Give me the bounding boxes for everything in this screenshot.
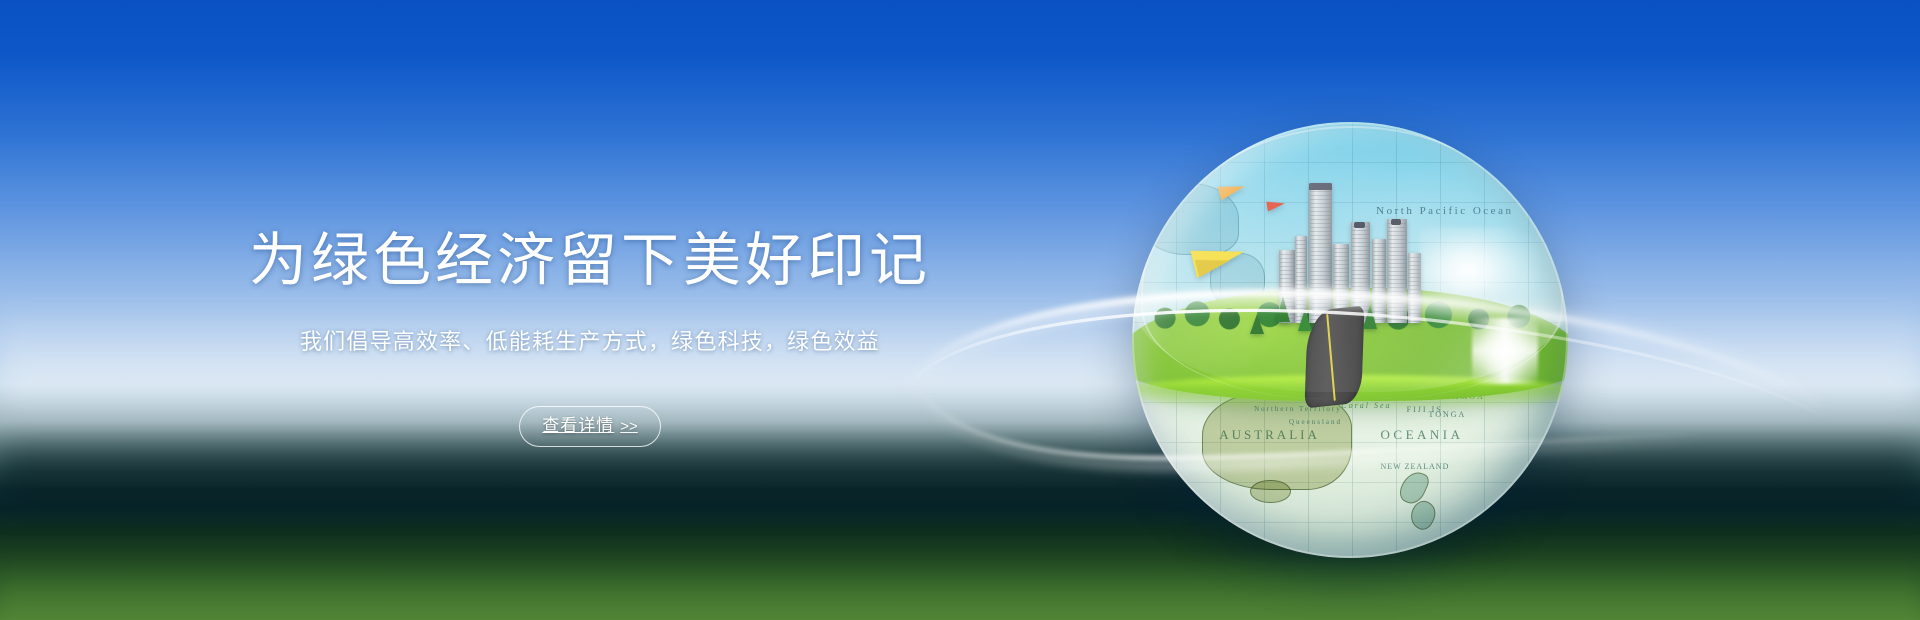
tree-icon — [1250, 314, 1264, 334]
page-title: 为绿色经济留下美好印记 — [0, 232, 1180, 290]
page-subtitle: 我们倡导高效率、低能耗生产方式，绿色科技，绿色效益 — [0, 331, 1180, 353]
building-rooftop — [1309, 183, 1332, 190]
view-details-label: 查看详情 — [542, 416, 614, 435]
tree-icon — [1276, 296, 1290, 322]
tree-icon — [1363, 305, 1377, 329]
city-skyline — [1276, 183, 1450, 323]
landmass-tasmania — [1250, 480, 1291, 504]
globe-illustration: North Pacific Ocean INDONESIA PAPUA NEW … — [1132, 122, 1568, 558]
cta-container: 查看详情>> — [0, 406, 1180, 447]
tree-icon — [1298, 309, 1312, 331]
building-rooftop — [1391, 219, 1401, 225]
hero-banner: North Pacific Ocean INDONESIA PAPUA NEW … — [0, 0, 1920, 620]
building — [1408, 253, 1420, 323]
view-details-button[interactable]: 查看详情>> — [519, 406, 661, 447]
building — [1387, 219, 1406, 322]
glass-globe: North Pacific Ocean INDONESIA PAPUA NEW … — [1132, 122, 1568, 558]
building-tallest — [1309, 183, 1332, 323]
banner-copy: 为绿色经济留下美好印记 我们倡导高效率、低能耗生产方式，绿色科技，绿色效益 查看… — [0, 0, 1180, 620]
chevron-right-icon: >> — [620, 418, 638, 435]
building-rooftop — [1354, 222, 1364, 228]
